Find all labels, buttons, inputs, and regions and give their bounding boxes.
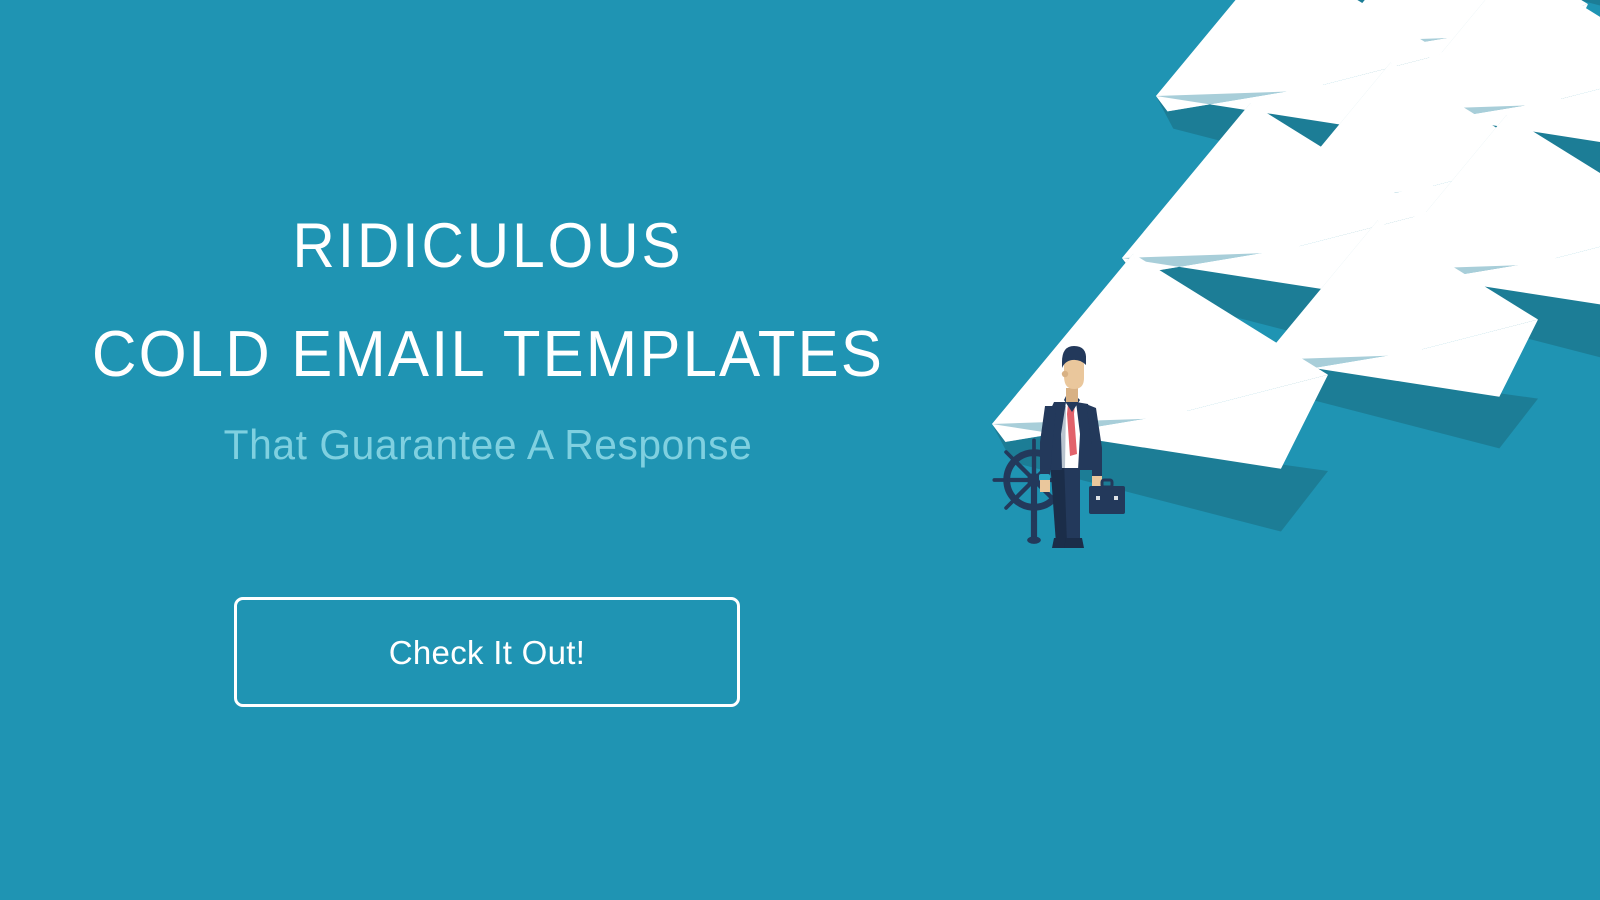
- shirt: [1054, 406, 1086, 468]
- promo-banner: RIDICULOUS COLD EMAIL TEMPLATES That Gua…: [0, 0, 1600, 900]
- plane-formation: [992, 0, 1600, 532]
- briefcase-icon: [1089, 480, 1125, 514]
- hand-left: [1040, 480, 1050, 492]
- page-title: RIDICULOUS COLD EMAIL TEMPLATES: [0, 192, 976, 408]
- hair: [1062, 346, 1086, 368]
- plane-4: [1156, 0, 1444, 188]
- shoe-front: [1064, 538, 1084, 548]
- jacket-left: [1044, 402, 1066, 470]
- plane-9: [1262, 220, 1538, 448]
- neck: [1066, 388, 1078, 402]
- plane-8: [1378, 115, 1600, 368]
- jacket-right: [1076, 402, 1094, 470]
- arm-left: [1040, 406, 1056, 478]
- plane-3: [1330, 0, 1588, 125]
- arm-right: [1086, 404, 1102, 476]
- leg-back: [1050, 460, 1068, 544]
- hand-right: [1092, 476, 1102, 488]
- plane-2: [1452, 0, 1600, 25]
- ships-wheel-icon: [994, 440, 1073, 544]
- head: [1064, 350, 1084, 389]
- plane-7: [1122, 103, 1428, 356]
- leg-front: [1064, 460, 1080, 544]
- banner-copy: RIDICULOUS COLD EMAIL TEMPLATES That Gua…: [0, 0, 976, 900]
- jacket-collar: [1064, 396, 1080, 412]
- ear: [1062, 371, 1068, 377]
- shirt-shade: [1054, 406, 1066, 468]
- necktie: [1067, 404, 1077, 456]
- shoe-back: [1052, 538, 1072, 548]
- plane-10-lead: [992, 254, 1328, 532]
- businessman-figure: [994, 346, 1125, 548]
- check-it-out-button[interactable]: Check It Out!: [234, 597, 740, 707]
- subtitle: That Guarantee A Response: [15, 414, 962, 476]
- wristwatch: [1039, 474, 1050, 481]
- headline-line-1: RIDICULOUS: [34, 192, 942, 300]
- plane-1: [1246, 0, 1504, 61]
- plane-6: [1280, 62, 1544, 280]
- headline-line-2: COLD EMAIL TEMPLATES: [24, 300, 951, 408]
- plane-5: [1394, 0, 1600, 202]
